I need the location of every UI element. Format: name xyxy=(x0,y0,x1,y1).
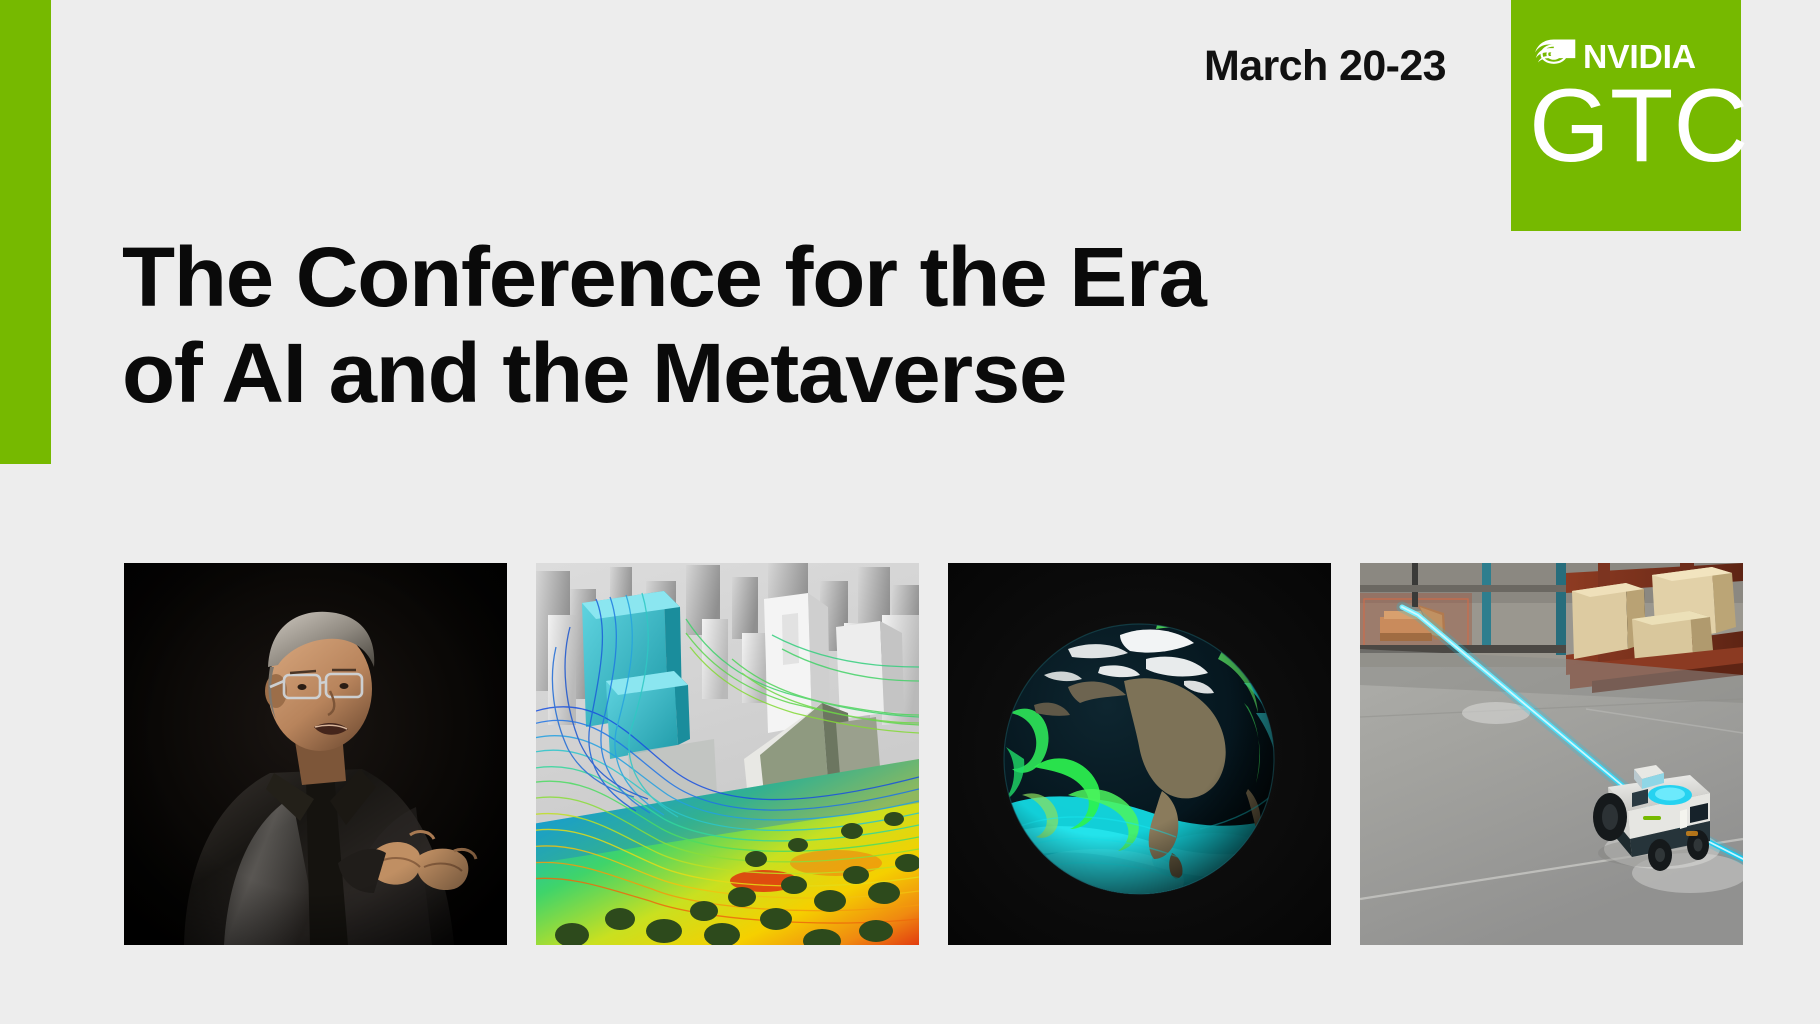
gallery-tile-city-airflow-simulation-image xyxy=(536,563,919,945)
poster-canvas: March 20-23 NVIDIA GTC The Conference fo… xyxy=(0,0,1820,1024)
gallery-tile-jensen-huang-keynote-photo xyxy=(124,563,507,945)
gtc-wordmark: GTC xyxy=(1529,74,1749,178)
gallery-tile-earth-climate-globe-image xyxy=(948,563,1331,945)
event-date: March 20-23 xyxy=(900,42,1446,90)
image-gallery xyxy=(124,563,1742,945)
nvidia-gtc-logo-block: NVIDIA GTC xyxy=(1511,0,1741,231)
gallery-tile-warehouse-robot-image xyxy=(1360,563,1743,945)
headline-line-1: The Conference for the Era xyxy=(122,229,1281,325)
headline: The Conference for the Era of AI and the… xyxy=(122,229,1242,421)
headline-line-2: of AI and the Metaverse xyxy=(122,325,1281,421)
left-green-accent-bar xyxy=(0,0,51,464)
